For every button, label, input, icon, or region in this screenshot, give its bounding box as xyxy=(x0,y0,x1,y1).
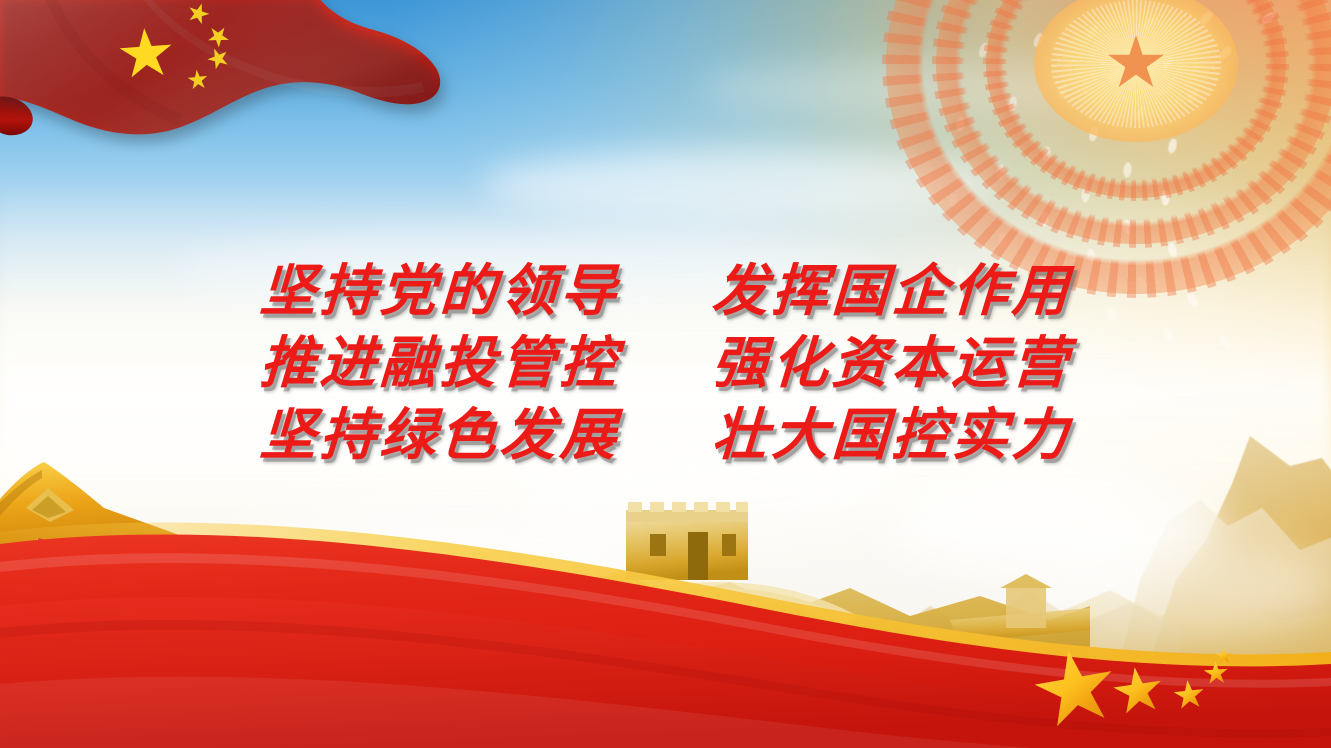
poster-canvas: 中华人民共和国万岁 世界人民大团结万岁 xyxy=(0,0,1331,748)
flag-shadow xyxy=(0,0,466,194)
sunburst-mandala xyxy=(876,0,1331,324)
national-flag xyxy=(0,0,462,186)
